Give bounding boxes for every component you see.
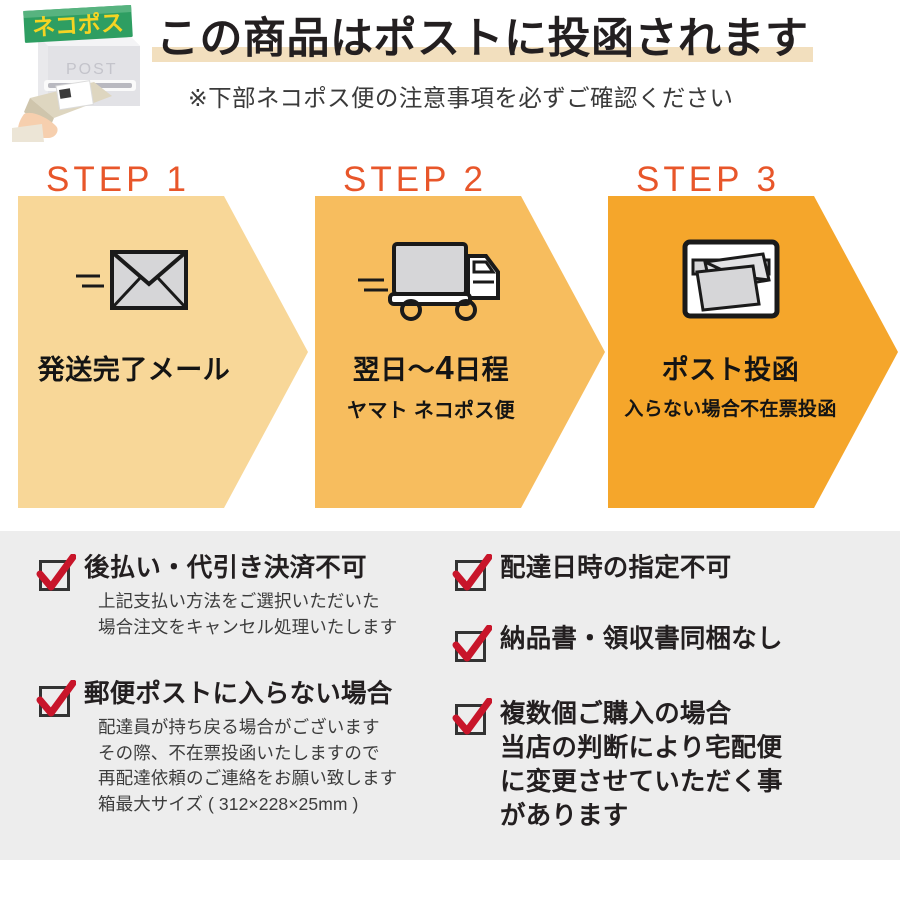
note-item: 配達日時の指定不可	[452, 553, 882, 593]
nekopos-badge-text: ネコポス	[32, 9, 125, 40]
step-1: STEP 1 発送完了メール	[18, 150, 318, 510]
note-item: 納品書・領収書同梱なし	[452, 624, 882, 664]
mailbox-illustration: POST ネコポス	[8, 2, 148, 144]
step-2-caption2: ヤマト ネコポス便	[347, 394, 515, 423]
note-title: 配達日時の指定不可	[500, 553, 882, 584]
step-2: STEP 2 翌日～4日程	[315, 150, 615, 510]
note-line: その際、不在票投函いたしますので	[98, 741, 436, 767]
title-block: この商品はポストに投函されます ※下部ネコポス便の注意事項を必ずご確認ください	[152, 14, 892, 113]
note-subtext: 配達員が持ち戻る場合がございます その際、不在票投函いたしますので 再配達依頼の…	[84, 715, 436, 817]
note-line: 上記支払い方法をご選択いただいた	[98, 589, 436, 615]
page-subtitle: ※下部ネコポス便の注意事項を必ずご確認ください	[152, 79, 892, 113]
note-item: 複数個ご購入の場合 当店の判断により宅配便 に変更させていただく事 があります	[452, 697, 882, 834]
checkbox-checked-icon	[452, 628, 488, 664]
mailbox-letters-icon	[679, 234, 783, 326]
notes-panel: 後払い・代引き決済不可 上記支払い方法をご選択いただいた 場合注文をキャンセル処…	[0, 531, 900, 860]
note-subtext: 上記支払い方法をご選択いただいた 場合注文をキャンセル処理いたします	[84, 589, 436, 640]
note-line: 再配達依頼のご連絡をお願い致します	[98, 766, 436, 792]
step-1-caption: 発送完了メール	[38, 348, 231, 387]
step-3-caption: ポスト投函	[662, 348, 800, 387]
note-line: 配達員が持ち戻る場合がございます	[98, 715, 436, 741]
note-title: 複数個ご購入の場合 当店の判断により宅配便 に変更させていただく事 があります	[500, 697, 882, 834]
step-3-caption2: 入らない場合不在票投函	[624, 394, 836, 421]
note-title: 納品書・領収書同梱なし	[500, 624, 882, 655]
checkbox-checked-icon	[36, 557, 72, 593]
step-2-body: 翌日～4日程 ヤマト ネコポス便	[315, 196, 547, 508]
steps-section: STEP 1 発送完了メール STEP 2	[0, 150, 900, 510]
step-1-body: 発送完了メール	[18, 196, 250, 508]
step-3-body: ポスト投函 入らない場合不在票投函	[608, 196, 853, 508]
header: POST ネコポス この商品はポストに投函されます ※下部ネコポス便の注意事項を…	[0, 0, 900, 148]
envelope-icon	[74, 234, 194, 326]
step-3-label: STEP 3	[636, 160, 780, 200]
step-2-caption-number: 4	[435, 349, 454, 386]
mailbox-post-text: POST	[66, 61, 118, 78]
checkbox-checked-icon	[452, 557, 488, 593]
note-item: 後払い・代引き決済不可 上記支払い方法をご選択いただいた 場合注文をキャンセル処…	[36, 553, 436, 640]
step-1-label: STEP 1	[46, 160, 190, 200]
note-line: 箱最大サイズ ( 312×228×25mm )	[98, 792, 436, 818]
note-item: 郵便ポストに入らない場合 配達員が持ち戻る場合がございます その際、不在票投函い…	[36, 679, 436, 817]
step-2-caption-pre: 翌日～	[353, 355, 436, 385]
truck-icon	[356, 234, 506, 326]
note-line: 場合注文をキャンセル処理いたします	[98, 615, 436, 641]
step-3: STEP 3 ポスト投函 入らない場合不在票投函	[608, 150, 900, 510]
checkbox-checked-icon	[452, 701, 488, 737]
checkbox-checked-icon	[36, 683, 72, 719]
note-title: 後払い・代引き決済不可	[84, 553, 436, 584]
note-title: 郵便ポストに入らない場合	[84, 679, 436, 710]
step-2-caption: 翌日～4日程	[353, 348, 509, 387]
step-2-caption-post: 日程	[454, 355, 509, 385]
step-2-label: STEP 2	[343, 160, 487, 200]
page-title: この商品はポストに投函されます	[152, 14, 813, 65]
